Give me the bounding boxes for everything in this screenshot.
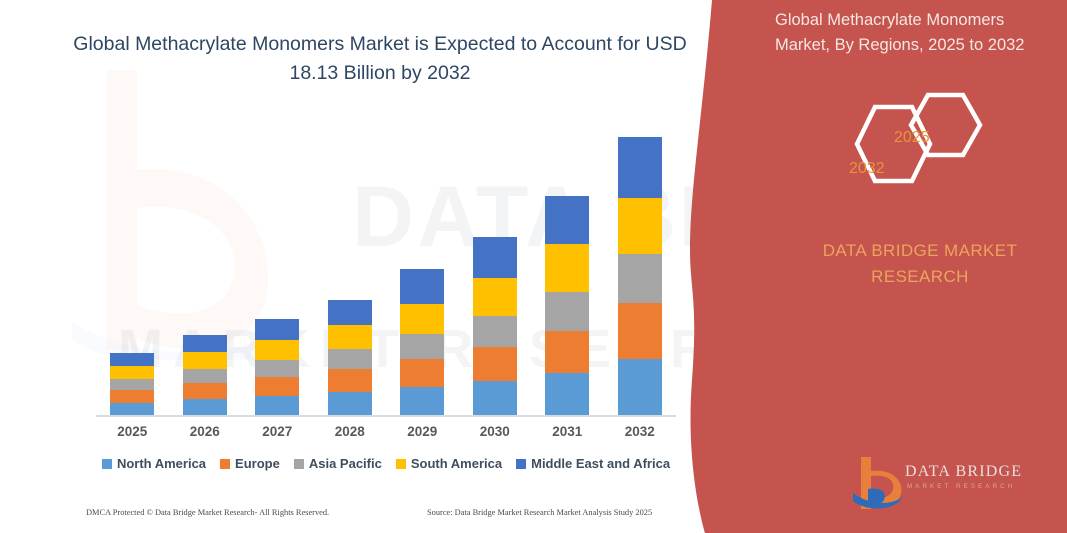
stacked-bar bbox=[545, 196, 589, 416]
logo: DATA BRIDGE MARKET RESEARCH bbox=[852, 455, 1052, 513]
branding-panel: Global Methacrylate Monomers Market, By … bbox=[680, 0, 1067, 533]
legend-item: North America bbox=[102, 456, 206, 471]
legend-item: Asia Pacific bbox=[294, 456, 382, 471]
bar-segment bbox=[618, 303, 662, 359]
bar-column bbox=[531, 100, 603, 416]
legend-swatch-icon bbox=[516, 459, 526, 469]
bar-segment bbox=[183, 383, 227, 399]
bar-segment bbox=[618, 359, 662, 416]
bar-segment bbox=[183, 369, 227, 383]
bar-segment bbox=[545, 244, 589, 292]
legend-item: Middle East and Africa bbox=[516, 456, 670, 471]
bar-column bbox=[241, 100, 313, 416]
legend-label: North America bbox=[117, 456, 206, 471]
chart-panel: DATA BRIDGE MARKET RESEARCH Global Metha… bbox=[0, 0, 760, 533]
bar-segment bbox=[400, 304, 444, 334]
bar-column bbox=[604, 100, 676, 416]
x-axis-labels: 20252026202720282029203020312032 bbox=[96, 424, 676, 439]
bar-column bbox=[169, 100, 241, 416]
chart-title: Global Methacrylate Monomers Market is E… bbox=[62, 30, 698, 88]
legend-swatch-icon bbox=[396, 459, 406, 469]
bar-segment bbox=[328, 392, 372, 416]
bar-segment bbox=[255, 396, 299, 416]
legend-item: South America bbox=[396, 456, 502, 471]
x-axis-tick-label: 2026 bbox=[169, 424, 241, 439]
stacked-bar bbox=[255, 319, 299, 416]
bar-segment bbox=[545, 196, 589, 244]
bar-segment bbox=[473, 347, 517, 381]
bar-segment bbox=[110, 366, 154, 379]
bar-segment bbox=[400, 269, 444, 304]
bar-segment bbox=[328, 369, 372, 392]
logo-wordmark: DATA BRIDGE bbox=[905, 463, 1022, 481]
bar-column bbox=[96, 100, 168, 416]
stacked-bar bbox=[473, 237, 517, 416]
x-axis-tick-label: 2031 bbox=[531, 424, 603, 439]
bar-segment bbox=[328, 349, 372, 369]
bar-segment bbox=[255, 360, 299, 377]
footer-source: Source: Data Bridge Market Research Mark… bbox=[427, 508, 652, 517]
stacked-bar bbox=[400, 269, 444, 416]
bar-segment bbox=[545, 331, 589, 373]
legend-swatch-icon bbox=[294, 459, 304, 469]
bar-segment bbox=[618, 198, 662, 254]
bar-segment bbox=[183, 335, 227, 352]
legend-label: Asia Pacific bbox=[309, 456, 382, 471]
stacked-bar bbox=[618, 137, 662, 416]
x-axis-tick-label: 2028 bbox=[314, 424, 386, 439]
brand-line-2: RESEARCH bbox=[790, 264, 1050, 290]
bar-segment bbox=[328, 300, 372, 325]
bar-segment bbox=[618, 254, 662, 303]
brand-line-1: DATA BRIDGE MARKET bbox=[790, 238, 1050, 264]
legend-swatch-icon bbox=[102, 459, 112, 469]
bar-segment bbox=[400, 359, 444, 387]
bar-segment bbox=[545, 373, 589, 416]
stacked-bar bbox=[328, 300, 372, 416]
bar-segment bbox=[255, 319, 299, 340]
legend-item: Europe bbox=[220, 456, 280, 471]
bar-segment bbox=[400, 387, 444, 416]
legend-label: Middle East and Africa bbox=[531, 456, 670, 471]
bar-segment bbox=[110, 379, 154, 390]
bar-segment bbox=[618, 137, 662, 198]
bar-segment bbox=[110, 353, 154, 366]
bar-segment bbox=[255, 377, 299, 396]
bar-segment bbox=[473, 278, 517, 316]
bar-segment bbox=[328, 325, 372, 349]
bar-group bbox=[96, 100, 676, 416]
legend-label: Europe bbox=[235, 456, 280, 471]
panel-title: Global Methacrylate Monomers Market, By … bbox=[775, 8, 1060, 58]
bar-segment bbox=[183, 399, 227, 416]
bar-segment bbox=[473, 316, 517, 347]
bar-segment bbox=[255, 340, 299, 360]
brand-name: DATA BRIDGE MARKET RESEARCH bbox=[790, 238, 1050, 290]
logo-tagline: MARKET RESEARCH bbox=[907, 483, 1015, 490]
hexagon-label-2032: 2032 bbox=[849, 160, 885, 178]
legend-swatch-icon bbox=[220, 459, 230, 469]
plot-area bbox=[96, 100, 676, 416]
bar-segment bbox=[110, 390, 154, 403]
x-axis-tick-label: 2030 bbox=[459, 424, 531, 439]
stacked-bar bbox=[110, 353, 154, 416]
infographic-canvas: DATA BRIDGE MARKET RESEARCH Global Metha… bbox=[0, 0, 1067, 533]
bar-column bbox=[386, 100, 458, 416]
bar-segment bbox=[545, 292, 589, 331]
x-axis-tick-label: 2029 bbox=[386, 424, 458, 439]
stacked-bar bbox=[183, 335, 227, 416]
x-axis-line bbox=[96, 415, 676, 417]
bar-column bbox=[314, 100, 386, 416]
chart-legend: North AmericaEuropeAsia PacificSouth Ame… bbox=[96, 456, 676, 471]
branding-content: Global Methacrylate Monomers Market, By … bbox=[680, 0, 1067, 533]
x-axis-tick-label: 2025 bbox=[96, 424, 168, 439]
bar-segment bbox=[473, 237, 517, 278]
hexagon-label-2025: 2025 bbox=[894, 129, 930, 147]
bar-segment bbox=[400, 334, 444, 359]
data-bridge-logo-icon bbox=[852, 455, 904, 511]
footer-copyright: DMCA Protected © Data Bridge Market Rese… bbox=[86, 508, 329, 517]
x-axis-tick-label: 2027 bbox=[241, 424, 313, 439]
bar-segment bbox=[183, 352, 227, 369]
bar-segment bbox=[473, 381, 517, 416]
legend-label: South America bbox=[411, 456, 502, 471]
bar-column bbox=[459, 100, 531, 416]
x-axis-tick-label: 2032 bbox=[604, 424, 676, 439]
